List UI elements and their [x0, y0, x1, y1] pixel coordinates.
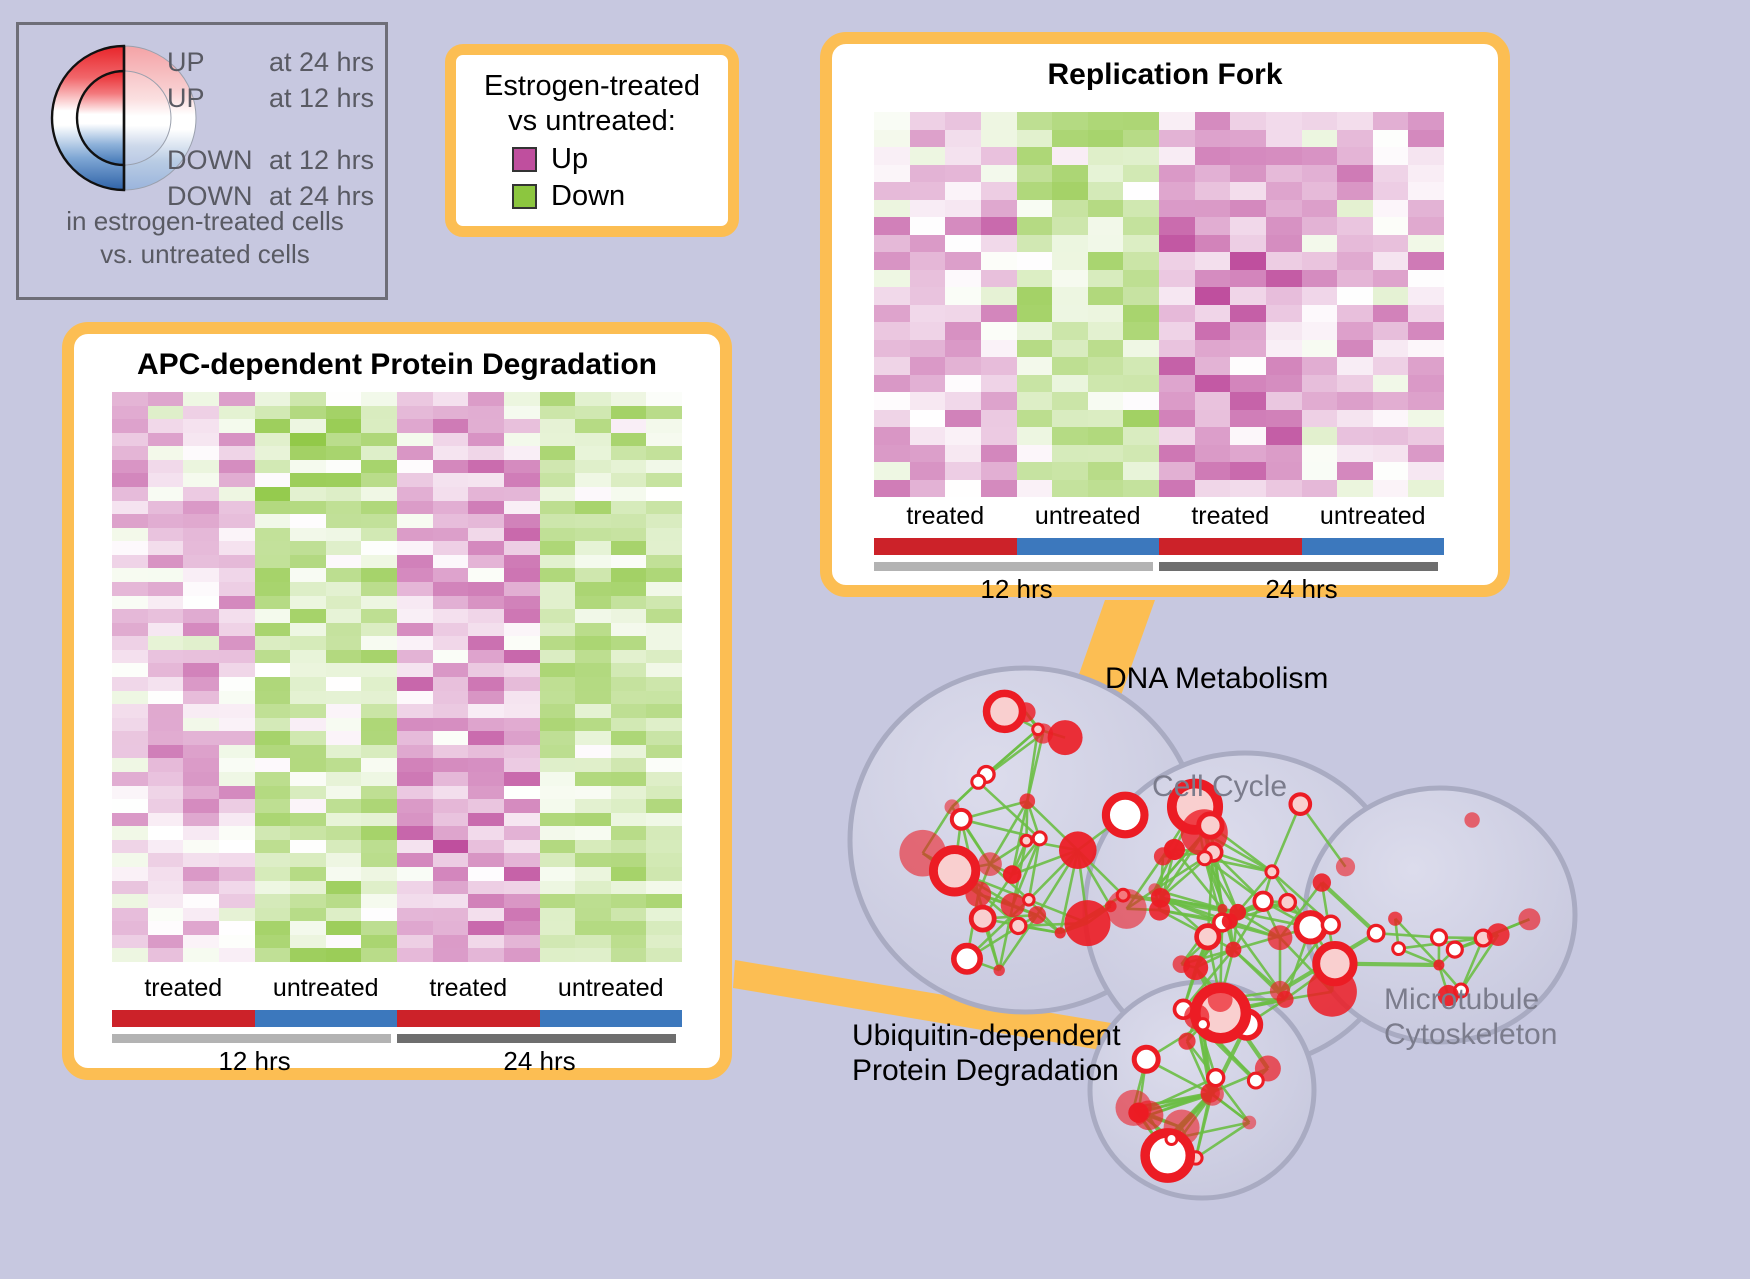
heatmap-cell [1337, 235, 1373, 253]
heatmap-cell [1195, 427, 1231, 445]
network-node[interactable] [1248, 1073, 1263, 1088]
heatmap-cell [397, 501, 433, 515]
heatmap-cell [1159, 217, 1195, 235]
heatmap-cell [112, 460, 148, 474]
heatmap-cell [1373, 270, 1409, 288]
network-node[interactable] [1197, 926, 1219, 948]
network-node[interactable] [1368, 925, 1384, 941]
heatmap-cell [255, 813, 291, 827]
heatmap-cell [1159, 130, 1195, 148]
heatmap-cell [290, 433, 326, 447]
network-node[interactable] [1316, 945, 1353, 982]
heatmap-cell [148, 582, 184, 596]
network-node[interactable] [1107, 889, 1147, 929]
network-node[interactable] [1208, 1070, 1224, 1086]
network-node[interactable] [1218, 904, 1228, 914]
heatmap-cell [112, 867, 148, 881]
heatmap-cell [646, 501, 682, 515]
heatmap-cell [575, 609, 611, 623]
heatmap-cell [540, 826, 576, 840]
heatmap-cell [361, 596, 397, 610]
heatmap-cell [1373, 427, 1409, 445]
heatmap-cell [219, 636, 255, 650]
heatmap-cell [1373, 252, 1409, 270]
sample-label-untreated-24: untreated [1302, 502, 1445, 531]
heatmap-cell [945, 357, 981, 375]
heatmap-cell [504, 677, 540, 691]
heatmap-cell [1123, 305, 1159, 323]
heatmap-cell [361, 528, 397, 542]
network-node[interactable] [972, 775, 985, 788]
heatmap-cell [290, 881, 326, 895]
network-node[interactable] [1336, 857, 1355, 876]
heatmap-cell [611, 446, 647, 460]
heatmap-cell [468, 731, 504, 745]
heatmap-cell [1088, 392, 1124, 410]
heatmap-cell [1337, 147, 1373, 165]
network-node[interactable] [1020, 793, 1036, 809]
heatmap-cell [1230, 147, 1266, 165]
heatmap-cell [504, 419, 540, 433]
heatmap-cell [361, 460, 397, 474]
network-node[interactable] [1003, 865, 1022, 884]
heatmap-cell [112, 826, 148, 840]
heatmap-cell [290, 894, 326, 908]
heatmap-cell [540, 745, 576, 759]
heatmap-cell [255, 528, 291, 542]
heatmap-cell [1266, 235, 1302, 253]
heatmap-cell [504, 406, 540, 420]
network-node[interactable] [1388, 912, 1402, 926]
heatmap-cell [326, 406, 362, 420]
heatmap-cell [1230, 270, 1266, 288]
heatmap-cell [183, 528, 219, 542]
heatmap-cell [183, 908, 219, 922]
heatmap-cell [183, 460, 219, 474]
heatmap-cell [1302, 340, 1338, 358]
heatmap-cell [112, 813, 148, 827]
heatmap-cell [981, 427, 1017, 445]
heatmap-cell [148, 772, 184, 786]
heatmap-cell [540, 731, 576, 745]
heatmap-cell [255, 623, 291, 637]
heatmap-cell [874, 392, 910, 410]
heatmap-cell [433, 501, 469, 515]
heatmap-cell [1195, 130, 1231, 148]
heatmap-cell [290, 813, 326, 827]
heatmap-cell [504, 636, 540, 650]
heatmap-cell [504, 840, 540, 854]
heatmap-cell [1088, 235, 1124, 253]
heatmap-cell [148, 636, 184, 650]
heatmap-cell [1408, 305, 1444, 323]
heatmap-cell [945, 427, 981, 445]
heatmap-cell [468, 853, 504, 867]
heatmap-cell [1195, 480, 1231, 498]
network-node[interactable] [994, 965, 1005, 976]
panel-apc-degradation: APC-dependent Protein Degradation treate… [62, 322, 732, 1080]
heatmap-cell [1088, 340, 1124, 358]
heatmap-cell [540, 528, 576, 542]
heatmap-cell [981, 445, 1017, 463]
heatmap-cell [219, 948, 255, 962]
heatmap-cell [1408, 357, 1444, 375]
network-node[interactable] [1028, 906, 1046, 924]
group-color-segment [540, 1010, 683, 1027]
heatmap-cell [397, 460, 433, 474]
heatmap-cell [1052, 287, 1088, 305]
heatmap-cell [611, 826, 647, 840]
heatmap-cell [575, 582, 611, 596]
heatmap-cell [183, 948, 219, 962]
heatmap-cell [1230, 357, 1266, 375]
heatmap-cell [504, 813, 540, 827]
network-node[interactable] [1464, 812, 1479, 827]
heatmap-cell [910, 305, 946, 323]
network-node[interactable] [1518, 908, 1540, 930]
network-node[interactable] [1021, 835, 1032, 846]
heatmap-cell [361, 501, 397, 515]
heatmap-cell [611, 799, 647, 813]
heatmap-cell [646, 813, 682, 827]
heatmap-cell [1230, 112, 1266, 130]
network-node[interactable] [1001, 893, 1025, 917]
heatmap-cell [1088, 217, 1124, 235]
heatmap-cell [433, 541, 469, 555]
heatmap-cell [611, 935, 647, 949]
heatmap-cell [1373, 322, 1409, 340]
heatmap-cell [1088, 427, 1124, 445]
heatmap-cell [148, 799, 184, 813]
heatmap-cell [361, 948, 397, 962]
heatmap-cell [981, 130, 1017, 148]
network-node[interactable] [1322, 916, 1339, 933]
network-node[interactable] [952, 810, 971, 829]
heatmap-cell [1017, 165, 1053, 183]
heatmap-cell [1266, 322, 1302, 340]
heatmap-cell [255, 460, 291, 474]
heatmap-cell [1088, 375, 1124, 393]
network-node[interactable] [1291, 794, 1311, 814]
network-node[interactable] [1280, 895, 1296, 911]
heatmap-cell [290, 867, 326, 881]
heatmap-cell [361, 881, 397, 895]
network-node[interactable] [1268, 925, 1293, 950]
heatmap-cell [646, 908, 682, 922]
heatmap-cell [945, 270, 981, 288]
heatmap-cell [1373, 445, 1409, 463]
heatmap-cell [326, 568, 362, 582]
heatmap-cell [433, 582, 469, 596]
heatmap-cell [611, 731, 647, 745]
heatmap-cell [219, 433, 255, 447]
heatmap-cell [1337, 410, 1373, 428]
heatmap-cell [540, 935, 576, 949]
heatmap-cell [1159, 200, 1195, 218]
heatmap-cell [1230, 392, 1266, 410]
network-node[interactable] [1222, 913, 1238, 929]
heatmap-cell [1159, 270, 1195, 288]
heatmap-cell [397, 392, 433, 406]
network-node[interactable] [1487, 923, 1510, 946]
heatmap-cell [433, 514, 469, 528]
network-node[interactable] [1166, 1134, 1177, 1145]
heatmap-cell [1408, 287, 1444, 305]
heatmap-cell [504, 392, 540, 406]
network-node[interactable] [1183, 955, 1208, 980]
network-node[interactable] [1197, 1019, 1208, 1030]
heatmap-cell [219, 881, 255, 895]
heatmap-cell [1408, 182, 1444, 200]
heatmap-cell [540, 555, 576, 569]
heatmap-cell [1017, 130, 1053, 148]
heatmap-cell [1017, 462, 1053, 480]
network-node[interactable] [971, 907, 994, 930]
heatmap-cell [433, 406, 469, 420]
network-node[interactable] [1296, 913, 1324, 941]
heatmap-cell [1123, 427, 1159, 445]
heatmap-cell [540, 636, 576, 650]
pathway-network-diagram: DNA Metabolism Cell Cycle Microtubule Cy… [790, 620, 1750, 1279]
heatmap-cell [945, 322, 981, 340]
network-node[interactable] [978, 852, 1002, 876]
heatmap-cell [183, 582, 219, 596]
network-node[interactable] [1151, 888, 1171, 908]
heatmap-cell [1088, 200, 1124, 218]
sample-label-treated-24: treated [397, 974, 540, 1003]
heatmap-cell [1159, 392, 1195, 410]
heatmap-cell [611, 473, 647, 487]
heatmap-cell [1408, 340, 1444, 358]
heatmap-cell [1302, 392, 1338, 410]
heatmap-cell [326, 745, 362, 759]
heatmap-cell [1017, 305, 1053, 323]
network-node[interactable] [1055, 927, 1066, 938]
heatmap-cell [397, 867, 433, 881]
network-node[interactable] [954, 946, 980, 972]
heatmap-cell [1195, 252, 1231, 270]
heatmap-cell [611, 813, 647, 827]
network-node[interactable] [1277, 991, 1294, 1008]
heatmap-cell [874, 357, 910, 375]
network-node[interactable] [987, 693, 1023, 729]
network-node[interactable] [1011, 918, 1026, 933]
heatmap-cell [540, 419, 576, 433]
network-node[interactable] [1024, 895, 1035, 906]
network-node[interactable] [1313, 873, 1331, 891]
heatmap-cell [183, 799, 219, 813]
heatmap-cell [219, 582, 255, 596]
heatmap-cell [1195, 165, 1231, 183]
group-color-segment [1302, 538, 1445, 555]
heatmap-cell [910, 410, 946, 428]
network-node[interactable] [1033, 832, 1046, 845]
network-node[interactable] [933, 850, 975, 892]
heatmap-cell [575, 663, 611, 677]
heatmap-cell [646, 786, 682, 800]
heatmap-cell [148, 853, 184, 867]
network-node[interactable] [1208, 987, 1233, 1012]
heatmap-cell [183, 772, 219, 786]
heatmap-cell [148, 473, 184, 487]
heatmap-cell [1408, 427, 1444, 445]
heatmap-cell [1266, 462, 1302, 480]
heatmap-cell [361, 786, 397, 800]
heatmap-cell [1052, 200, 1088, 218]
heatmap-cell [540, 718, 576, 732]
heatmap-cell [874, 147, 910, 165]
heatmap-cell [646, 935, 682, 949]
time-tick-segment [874, 562, 1153, 571]
heatmap-cell [910, 322, 946, 340]
network-node[interactable] [1134, 1047, 1158, 1071]
heatmap-cell [646, 758, 682, 772]
network-node[interactable] [1106, 796, 1145, 835]
heatmap-cell [183, 786, 219, 800]
updown-key-item-up: Up [456, 143, 728, 176]
heatmap-cell [290, 948, 326, 962]
heatmap-cell [397, 514, 433, 528]
heatmap-cell [326, 596, 362, 610]
heatmap-cell [112, 840, 148, 854]
heatmap-cell [361, 718, 397, 732]
network-node[interactable] [1254, 893, 1272, 911]
network-node[interactable] [1393, 943, 1405, 955]
network-node[interactable] [1033, 724, 1044, 735]
heatmap-cell [1159, 480, 1195, 498]
network-node[interactable] [1199, 814, 1222, 837]
heatmap-cell [504, 663, 540, 677]
sample-label-treated-12: treated [874, 502, 1017, 531]
heatmap-cell [183, 419, 219, 433]
heatmap-cell [112, 772, 148, 786]
heatmap-cell [326, 731, 362, 745]
heatmap-cell [1337, 270, 1373, 288]
heatmap-cell [361, 568, 397, 582]
heatmap-cell [433, 609, 469, 623]
network-node[interactable] [1201, 1083, 1220, 1102]
heatmap-cell [504, 555, 540, 569]
heatmap-cell [148, 704, 184, 718]
heatmap-cell [611, 650, 647, 664]
heatmap-cell [219, 568, 255, 582]
panel-title-replication-fork: Replication Fork [832, 58, 1498, 92]
heatmap-cell [1337, 392, 1373, 410]
heatmap-cell [1017, 357, 1053, 375]
heatmap-cell [361, 867, 397, 881]
heatmap-cell [255, 541, 291, 555]
heatmap-cell [646, 881, 682, 895]
network-node[interactable] [1116, 1090, 1152, 1126]
heatmap-cell [326, 473, 362, 487]
heatmap-cell [1052, 182, 1088, 200]
heatmap-cell [575, 691, 611, 705]
heatmap-cell [1337, 427, 1373, 445]
heatmap-cell [468, 691, 504, 705]
heatmap-cell [1052, 270, 1088, 288]
heatmap-cell [646, 636, 682, 650]
heatmap-cell [361, 758, 397, 772]
heatmap-cell [183, 881, 219, 895]
heatmap-cell [1088, 445, 1124, 463]
heatmap-cell [611, 528, 647, 542]
heatmap-cell [504, 908, 540, 922]
heatmap-cell [433, 473, 469, 487]
heatmap-cell [504, 623, 540, 637]
network-node[interactable] [1447, 942, 1462, 957]
heatmap-cell [646, 487, 682, 501]
heatmap-cell [219, 853, 255, 867]
network-node[interactable] [1059, 831, 1097, 869]
heatmap-cell [468, 623, 504, 637]
network-node[interactable] [1048, 720, 1083, 755]
heatmap-cell [255, 392, 291, 406]
heatmap-cell [874, 235, 910, 253]
heatmap-cell [646, 948, 682, 962]
heatmap-cell [468, 908, 504, 922]
heatmap-cell [219, 473, 255, 487]
heatmap-cell [646, 677, 682, 691]
heatmap-cell [1337, 217, 1373, 235]
cluster-label-dna-metabolism: DNA Metabolism [1105, 662, 1328, 696]
heatmap-cell [1302, 182, 1338, 200]
heatmap-cell [397, 758, 433, 772]
heatmap-cell [1088, 182, 1124, 200]
network-node[interactable] [1432, 930, 1447, 945]
heatmap-cell [219, 813, 255, 827]
heatmap-cell [361, 406, 397, 420]
network-node[interactable] [1178, 1033, 1195, 1050]
heatmap-cell [611, 636, 647, 650]
heatmap-cell [504, 745, 540, 759]
sample-label-untreated-24: untreated [540, 974, 683, 1003]
heatmap-cell [1159, 340, 1195, 358]
heatmap-cell [945, 130, 981, 148]
heatmap-cell [504, 948, 540, 962]
heatmap-cell [361, 650, 397, 664]
heatmap-cell [290, 853, 326, 867]
network-node[interactable] [1065, 900, 1111, 946]
heatmap-cell [1373, 392, 1409, 410]
network-node[interactable] [1266, 866, 1278, 878]
heatmap-cell [1088, 287, 1124, 305]
heatmap-cell [433, 731, 469, 745]
heatmap-cell [361, 813, 397, 827]
network-node[interactable] [1242, 1116, 1256, 1130]
heatmap-cell [1123, 235, 1159, 253]
network-node[interactable] [1198, 852, 1211, 865]
heatmap-cell [433, 704, 469, 718]
heatmap-cell [433, 772, 469, 786]
heatmap-cell [504, 921, 540, 935]
group-color-segment [874, 538, 1017, 555]
network-node[interactable] [1433, 960, 1444, 971]
heatmap-cell [148, 514, 184, 528]
network-node[interactable] [1225, 942, 1241, 958]
heatmap-cell [255, 948, 291, 962]
heatmap-cell [290, 908, 326, 922]
network-node[interactable] [1164, 839, 1185, 860]
heatmap-cell [255, 446, 291, 460]
heatmap-cell [945, 410, 981, 428]
heatmap-cell [397, 609, 433, 623]
sample-label-treated-12: treated [112, 974, 255, 1003]
heatmap-cell [910, 165, 946, 183]
heatmap-cell [611, 568, 647, 582]
heatmap-cell [981, 357, 1017, 375]
heatmap-cell [504, 894, 540, 908]
heatmap-cell [219, 406, 255, 420]
